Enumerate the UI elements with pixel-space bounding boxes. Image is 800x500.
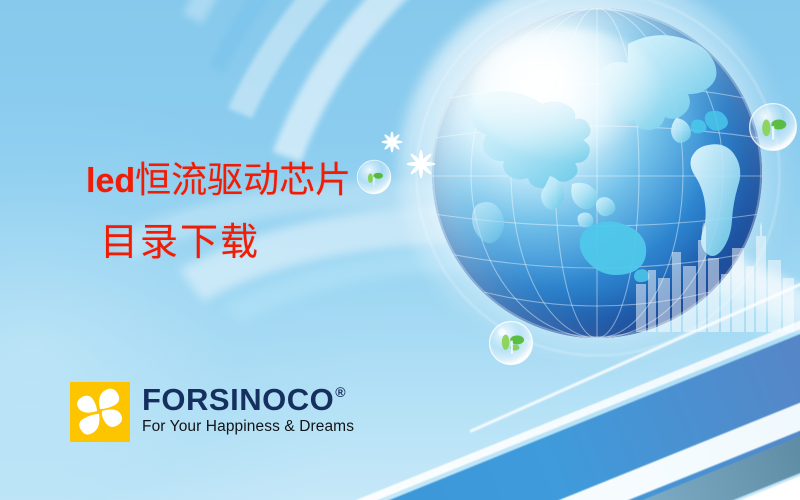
sparkle-flower-icon xyxy=(378,128,406,156)
logo-tagline: For Your Happiness & Dreams xyxy=(142,418,354,436)
four-petal-pinwheel-icon xyxy=(70,382,130,442)
city-skyline-silhouette-icon xyxy=(632,222,800,332)
logo-wordmark: FORSINOCO ® xyxy=(142,384,354,415)
brand-logo: FORSINOCO ® For Your Happiness & Dreams xyxy=(70,382,354,442)
logo-text: FORSINOCO ® For Your Happiness & Dreams xyxy=(142,382,354,436)
bubble-windmill-icon xyxy=(356,159,392,195)
logo-mark xyxy=(70,382,130,442)
bubble-windmill-icon xyxy=(488,320,534,366)
bubble-windmill-icon xyxy=(748,102,798,152)
banner-canvas: led恒流驱动芯片 目录下载 FORSINOCO ® For Your Happ… xyxy=(0,0,800,500)
logo-brand-name: FORSINOCO xyxy=(142,384,334,415)
registered-trademark-icon: ® xyxy=(335,385,346,399)
sparkle-flower-icon xyxy=(403,146,439,182)
